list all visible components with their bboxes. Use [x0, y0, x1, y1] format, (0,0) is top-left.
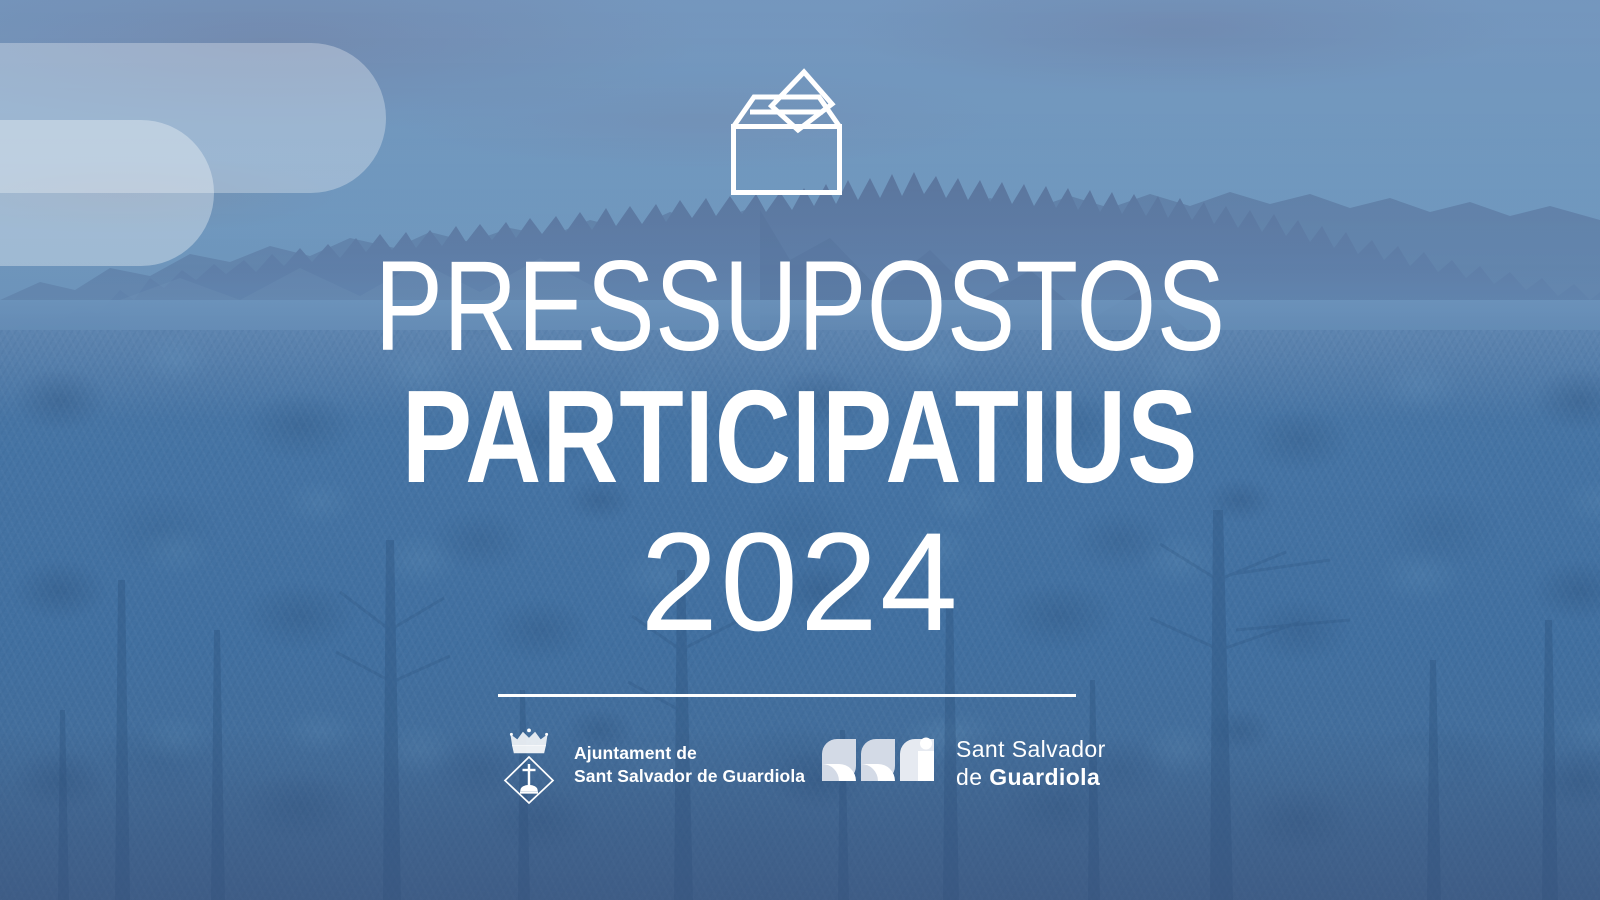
ajuntament-logo-text: Ajuntament de Sant Salvador de Guardiola — [574, 742, 805, 789]
divider-rule — [498, 694, 1076, 697]
ssg-logo-text: Sant Salvador de Guardiola — [956, 736, 1106, 791]
poster-canvas: PRESSUPOSTOS PARTICIPATIUS 2024 — [0, 0, 1600, 900]
page-title-year: 2024 — [0, 512, 1600, 652]
ssg-logo: Sant Salvador de Guardiola — [820, 736, 1106, 791]
page-title-line-1: PRESSUPOSTOS — [160, 246, 1440, 368]
ajuntament-line-1: Ajuntament de — [574, 742, 805, 765]
ballot-box-icon — [724, 64, 849, 199]
page-title-line-2: PARTICIPATIUS — [160, 374, 1440, 501]
ssg-monogram-icon — [820, 737, 942, 791]
ssg-line-2-light: de — [956, 764, 989, 790]
ssg-line-2: de Guardiola — [956, 764, 1106, 792]
ssg-line-2-bold: Guardiola — [989, 764, 1100, 790]
ajuntament-line-2: Sant Salvador de Guardiola — [574, 765, 805, 788]
ssg-line-1: Sant Salvador — [956, 736, 1106, 764]
poster-content: PRESSUPOSTOS PARTICIPATIUS 2024 — [0, 0, 1600, 900]
logo-row: Ajuntament de Sant Salvador de Guardiola — [0, 726, 1600, 816]
title-block: PRESSUPOSTOS PARTICIPATIUS 2024 — [0, 246, 1600, 652]
ajuntament-logo: Ajuntament de Sant Salvador de Guardiola — [500, 726, 805, 804]
crown-and-diamond-crest-icon — [500, 726, 558, 804]
